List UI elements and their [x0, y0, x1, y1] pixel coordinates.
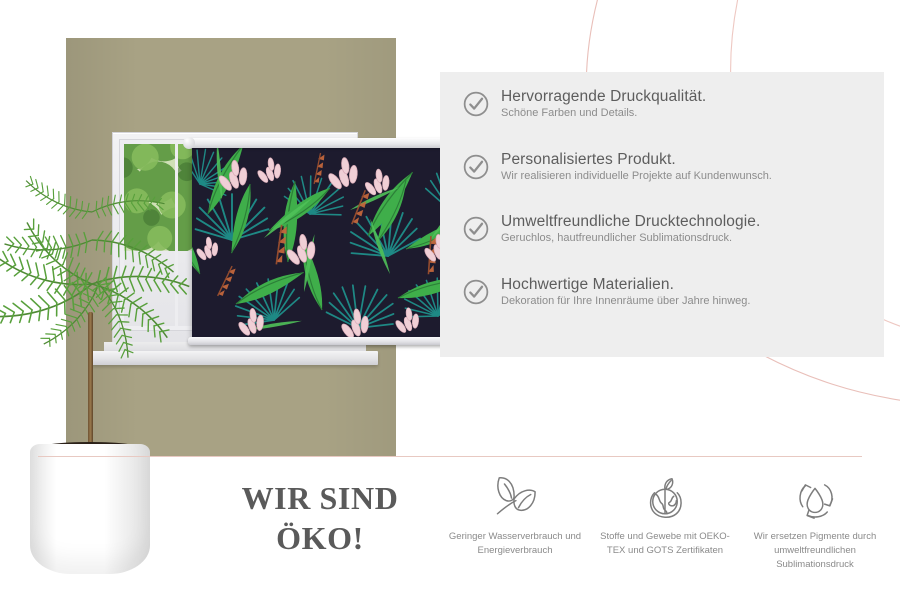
feature-item: Umweltfreundliche Drucktechnologie. Geru…	[462, 213, 882, 246]
feature-subtitle: Wir realisieren individuelle Projekte au…	[501, 170, 772, 183]
plant-trunk	[88, 312, 93, 452]
eco-item: Stoffe und Gewebe mit OEKO-TEX und GOTS …	[590, 470, 740, 571]
roller-blind-bottom-bar[interactable]	[188, 337, 482, 345]
roller-blind[interactable]	[192, 144, 478, 338]
water-drop-recycle-icon	[787, 470, 843, 526]
feature-item: Personalisiertes Produkt. Wir realisiere…	[462, 151, 882, 184]
two-leaves-icon	[487, 470, 543, 526]
roller-blind-bracket-left	[183, 137, 195, 149]
feature-subtitle: Geruchlos, hautfreundlicher Sublimations…	[501, 232, 760, 245]
check-circle-icon	[462, 153, 490, 181]
section-divider	[38, 456, 862, 457]
eco-item: Geringer Wasserverbrauch und Energieverb…	[440, 470, 590, 571]
globe-leaf-icon	[637, 470, 693, 526]
eco-headline-line1: WIR SIND	[200, 478, 440, 518]
check-circle-icon	[462, 278, 490, 306]
eco-caption: Wir ersetzen Pigmente durch umweltfreund…	[741, 530, 889, 571]
promo-banner: Hervorragende Druckqualität. Schöne Farb…	[0, 0, 900, 600]
eco-caption: Stoffe und Gewebe mit OEKO-TEX und GOTS …	[591, 530, 739, 558]
feature-title: Hochwertige Materialien.	[501, 276, 750, 293]
check-circle-icon	[462, 90, 490, 118]
eco-item: Wir ersetzen Pigmente durch umweltfreund…	[740, 470, 890, 571]
feature-item: Hochwertige Materialien. Dekoration für …	[462, 276, 882, 309]
plant-pot	[30, 444, 150, 574]
check-circle-icon	[462, 215, 490, 243]
potted-plant	[0, 272, 202, 600]
eco-feature-list: Geringer Wasserverbrauch und Energieverb…	[440, 470, 890, 571]
feature-title: Umweltfreundliche Drucktechnologie.	[501, 213, 760, 230]
feature-subtitle: Dekoration für Ihre Innenräume über Jahr…	[501, 295, 750, 308]
eco-headline: WIR SIND ÖKO!	[200, 478, 440, 558]
palm-foliage-icon	[0, 172, 202, 372]
eco-caption: Geringer Wasserverbrauch und Energieverb…	[441, 530, 589, 558]
tropical-pattern-icon	[192, 144, 478, 338]
feature-title: Personalisiertes Produkt.	[501, 151, 772, 168]
feature-item: Hervorragende Druckqualität. Schöne Farb…	[462, 88, 882, 121]
eco-headline-line2: ÖKO!	[200, 518, 440, 558]
feature-list: Hervorragende Druckqualität. Schöne Farb…	[462, 88, 882, 338]
feature-subtitle: Schöne Farben und Details.	[501, 107, 706, 120]
roller-blind-fabric	[192, 144, 478, 338]
feature-title: Hervorragende Druckqualität.	[501, 88, 706, 105]
